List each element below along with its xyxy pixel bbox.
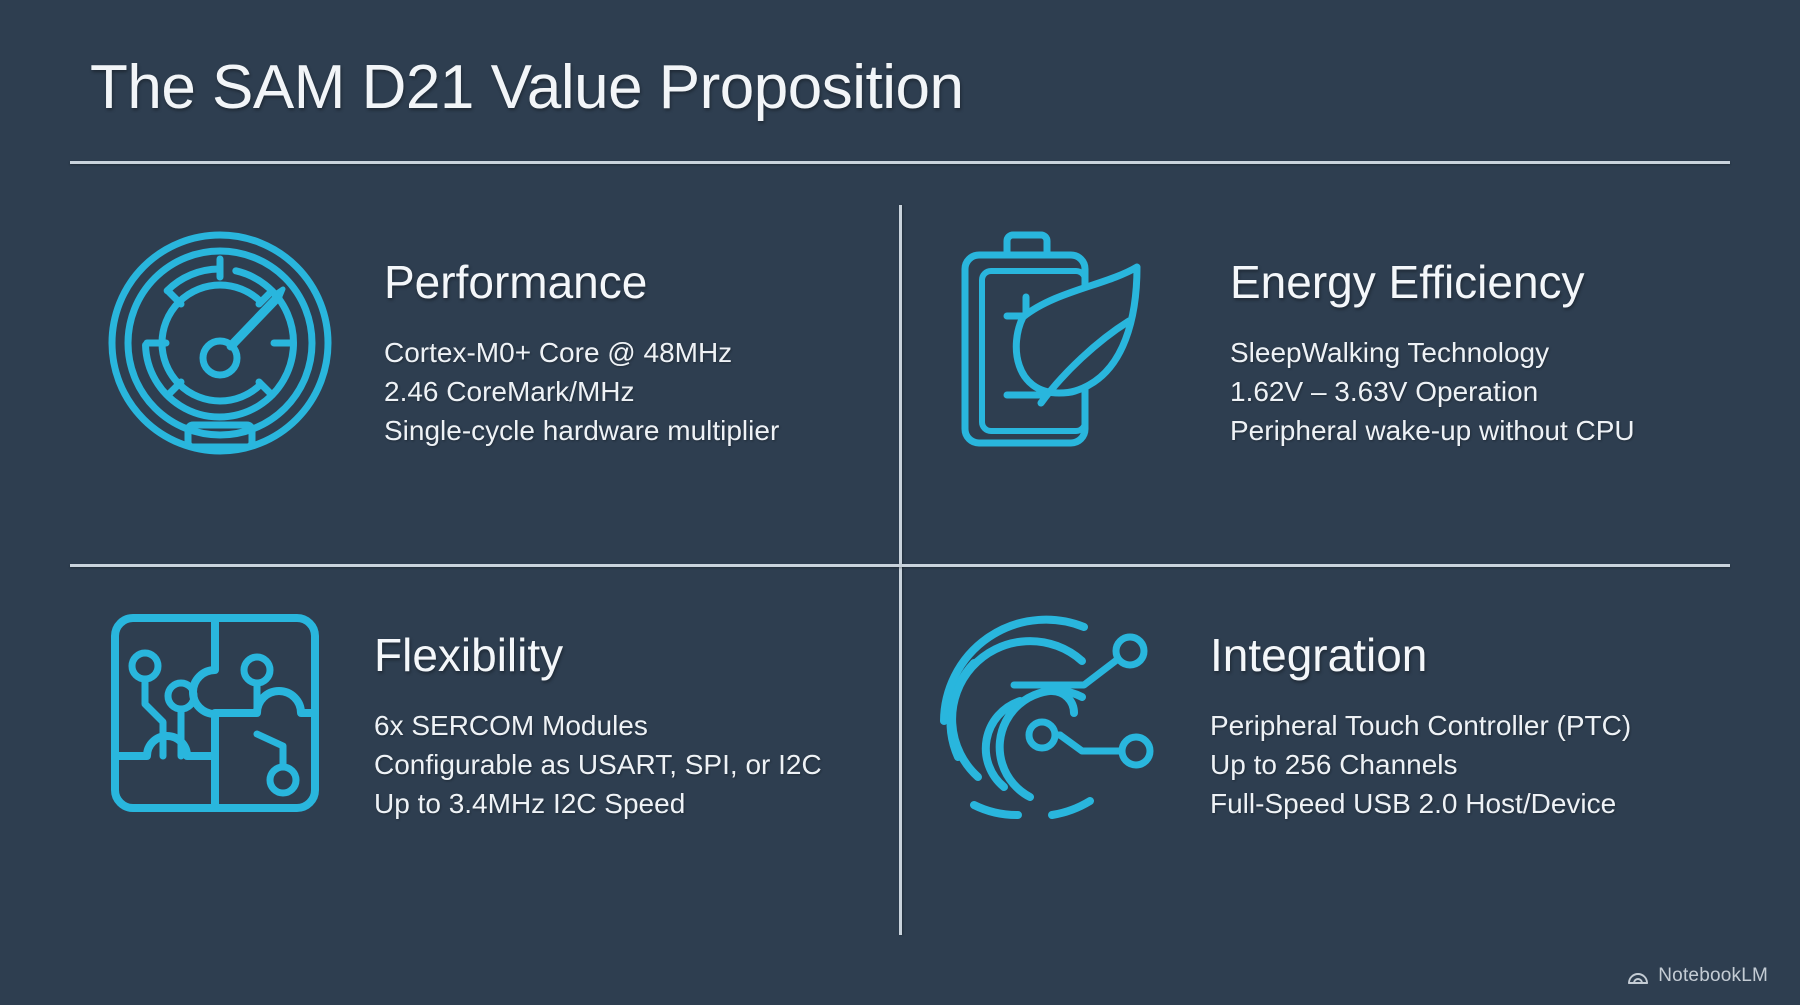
notebooklm-arc-icon	[1627, 967, 1649, 985]
quadrant-line: 1.62V – 3.63V Operation	[1230, 372, 1635, 411]
slide-root: The SAM D21 Value Proposition	[0, 0, 1800, 1005]
title-divider	[70, 161, 1730, 164]
speedometer-icon	[100, 225, 340, 465]
quadrant-title: Integration	[1210, 628, 1631, 682]
quadrant-performance: Performance Cortex-M0+ Core @ 48MHz 2.46…	[100, 225, 880, 465]
quadrant-line: 2.46 CoreMark/MHz	[384, 372, 779, 411]
page-title: The SAM D21 Value Proposition	[90, 52, 963, 123]
quadrant-grid: Performance Cortex-M0+ Core @ 48MHz 2.46…	[70, 200, 1730, 935]
quadrant-line: Peripheral Touch Controller (PTC)	[1210, 706, 1631, 745]
quadrant-line: Peripheral wake-up without CPU	[1230, 411, 1635, 450]
quadrant-line: Full-Speed USB 2.0 Host/Device	[1210, 784, 1631, 823]
quadrant-line: Up to 3.4MHz I2C Speed	[374, 784, 822, 823]
quadrant-energy-efficiency: Energy Efficiency SleepWalking Technolog…	[946, 225, 1726, 465]
quadrant-title: Flexibility	[374, 628, 822, 682]
quadrant-line: SleepWalking Technology	[1230, 333, 1635, 372]
performance-text: Performance Cortex-M0+ Core @ 48MHz 2.46…	[384, 225, 779, 450]
quadrant-line: Cortex-M0+ Core @ 48MHz	[384, 333, 779, 372]
horizontal-divider	[70, 564, 1730, 567]
fingerprint-circuit-icon	[936, 598, 1166, 828]
quadrant-title: Performance	[384, 255, 779, 309]
flexibility-text: Flexibility 6x SERCOM Modules Configurab…	[374, 598, 822, 823]
quadrant-flexibility: Flexibility 6x SERCOM Modules Configurab…	[100, 598, 880, 828]
puzzle-circuit-icon	[100, 598, 330, 828]
notebooklm-label: NotebookLM	[1658, 965, 1768, 987]
quadrant-line: 6x SERCOM Modules	[374, 706, 822, 745]
quadrant-line: Single-cycle hardware multiplier	[384, 411, 779, 450]
quadrant-integration: Integration Peripheral Touch Controller …	[936, 598, 1726, 828]
energy-efficiency-text: Energy Efficiency SleepWalking Technolog…	[1230, 225, 1635, 450]
notebooklm-watermark: NotebookLM	[1627, 965, 1768, 987]
integration-text: Integration Peripheral Touch Controller …	[1210, 598, 1631, 823]
quadrant-line: Configurable as USART, SPI, or I2C	[374, 745, 822, 784]
battery-leaf-icon	[946, 225, 1186, 465]
quadrant-line: Up to 256 Channels	[1210, 745, 1631, 784]
quadrant-title: Energy Efficiency	[1230, 255, 1635, 309]
vertical-divider	[899, 205, 902, 935]
